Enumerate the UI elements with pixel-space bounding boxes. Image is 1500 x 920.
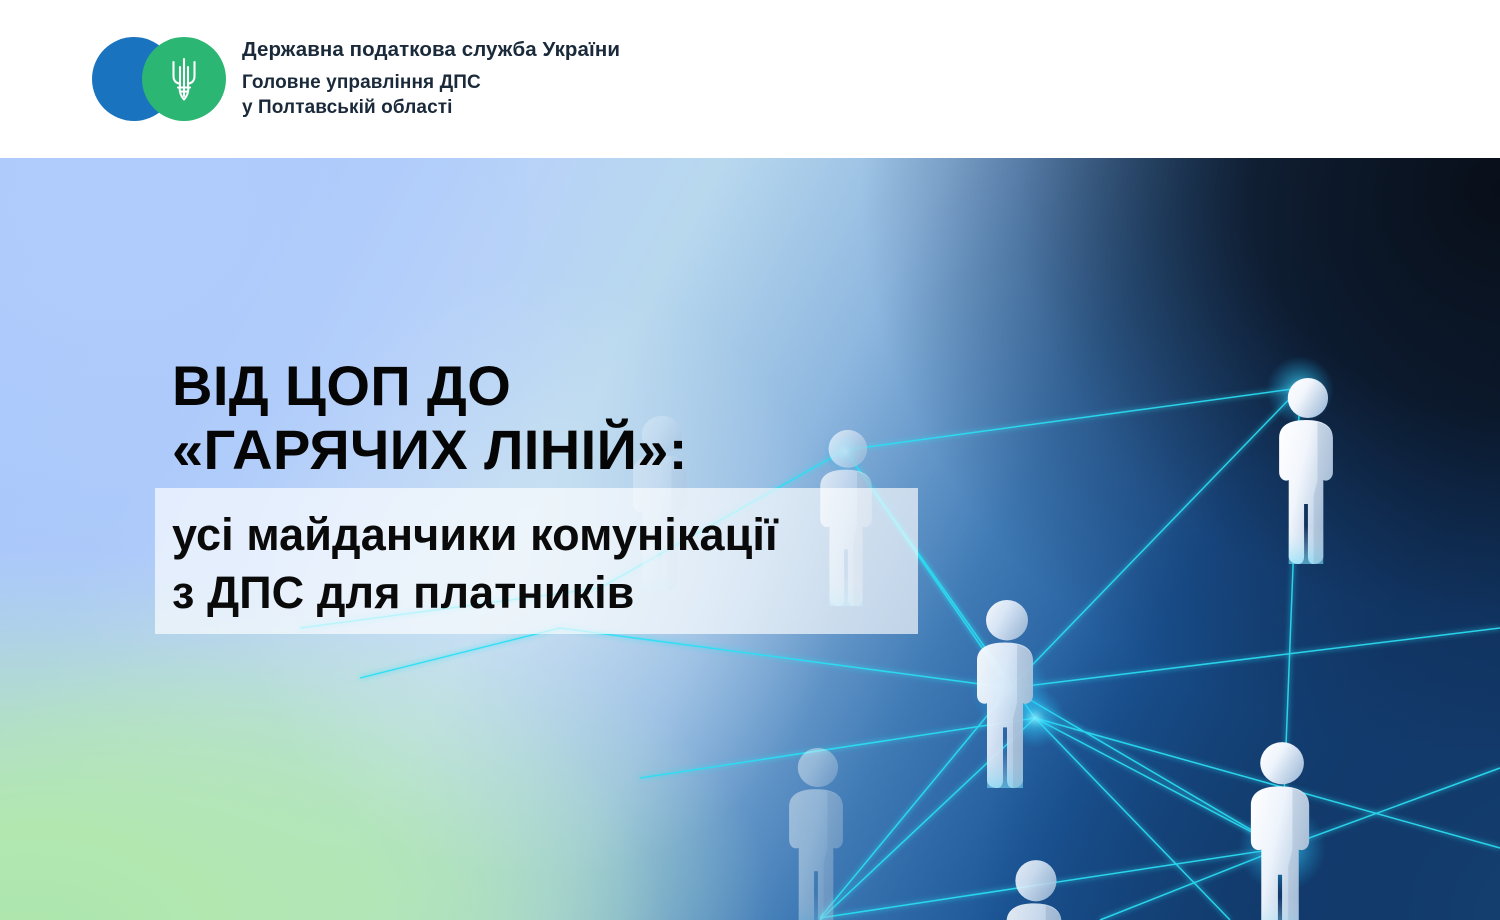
headline-line-1: ВІД ЦОП ДО — [172, 354, 688, 418]
subheadline-line-2: з ДПС для платників — [172, 564, 778, 622]
ukrainian-trident-icon — [142, 37, 226, 121]
promo-banner: Державна податкова служба України Головн… — [0, 0, 1500, 920]
subheadline-line-1: усі майданчики комунікації — [172, 506, 778, 564]
hero-artwork: ВІД ЦОП ДО «ГАРЯЧИХ ЛІНІЙ»: усі майданчи… — [0, 158, 1500, 920]
figure-top-right — [1258, 376, 1354, 566]
headline-line-2: «ГАРЯЧИХ ЛІНІЙ»: — [172, 418, 688, 482]
figure-bottom-center — [985, 858, 1083, 920]
org-line-1: Державна податкова служба України — [242, 37, 620, 63]
subheadline: усі майданчики комунікації з ДПС для пла… — [172, 506, 778, 621]
figure-lower-right — [1228, 740, 1332, 920]
banner-header: Державна податкова служба України Головн… — [0, 0, 1500, 158]
headline: ВІД ЦОП ДО «ГАРЯЧИХ ЛІНІЙ»: — [172, 354, 688, 482]
figure-lower-center — [768, 746, 864, 920]
dps-logo — [92, 37, 226, 121]
org-line-3: у Полтавській області — [242, 95, 620, 121]
organisation-name: Державна податкова служба України Головн… — [242, 37, 620, 121]
org-line-2: Головне управління ДПС — [242, 70, 620, 96]
figure-center — [955, 598, 1055, 790]
